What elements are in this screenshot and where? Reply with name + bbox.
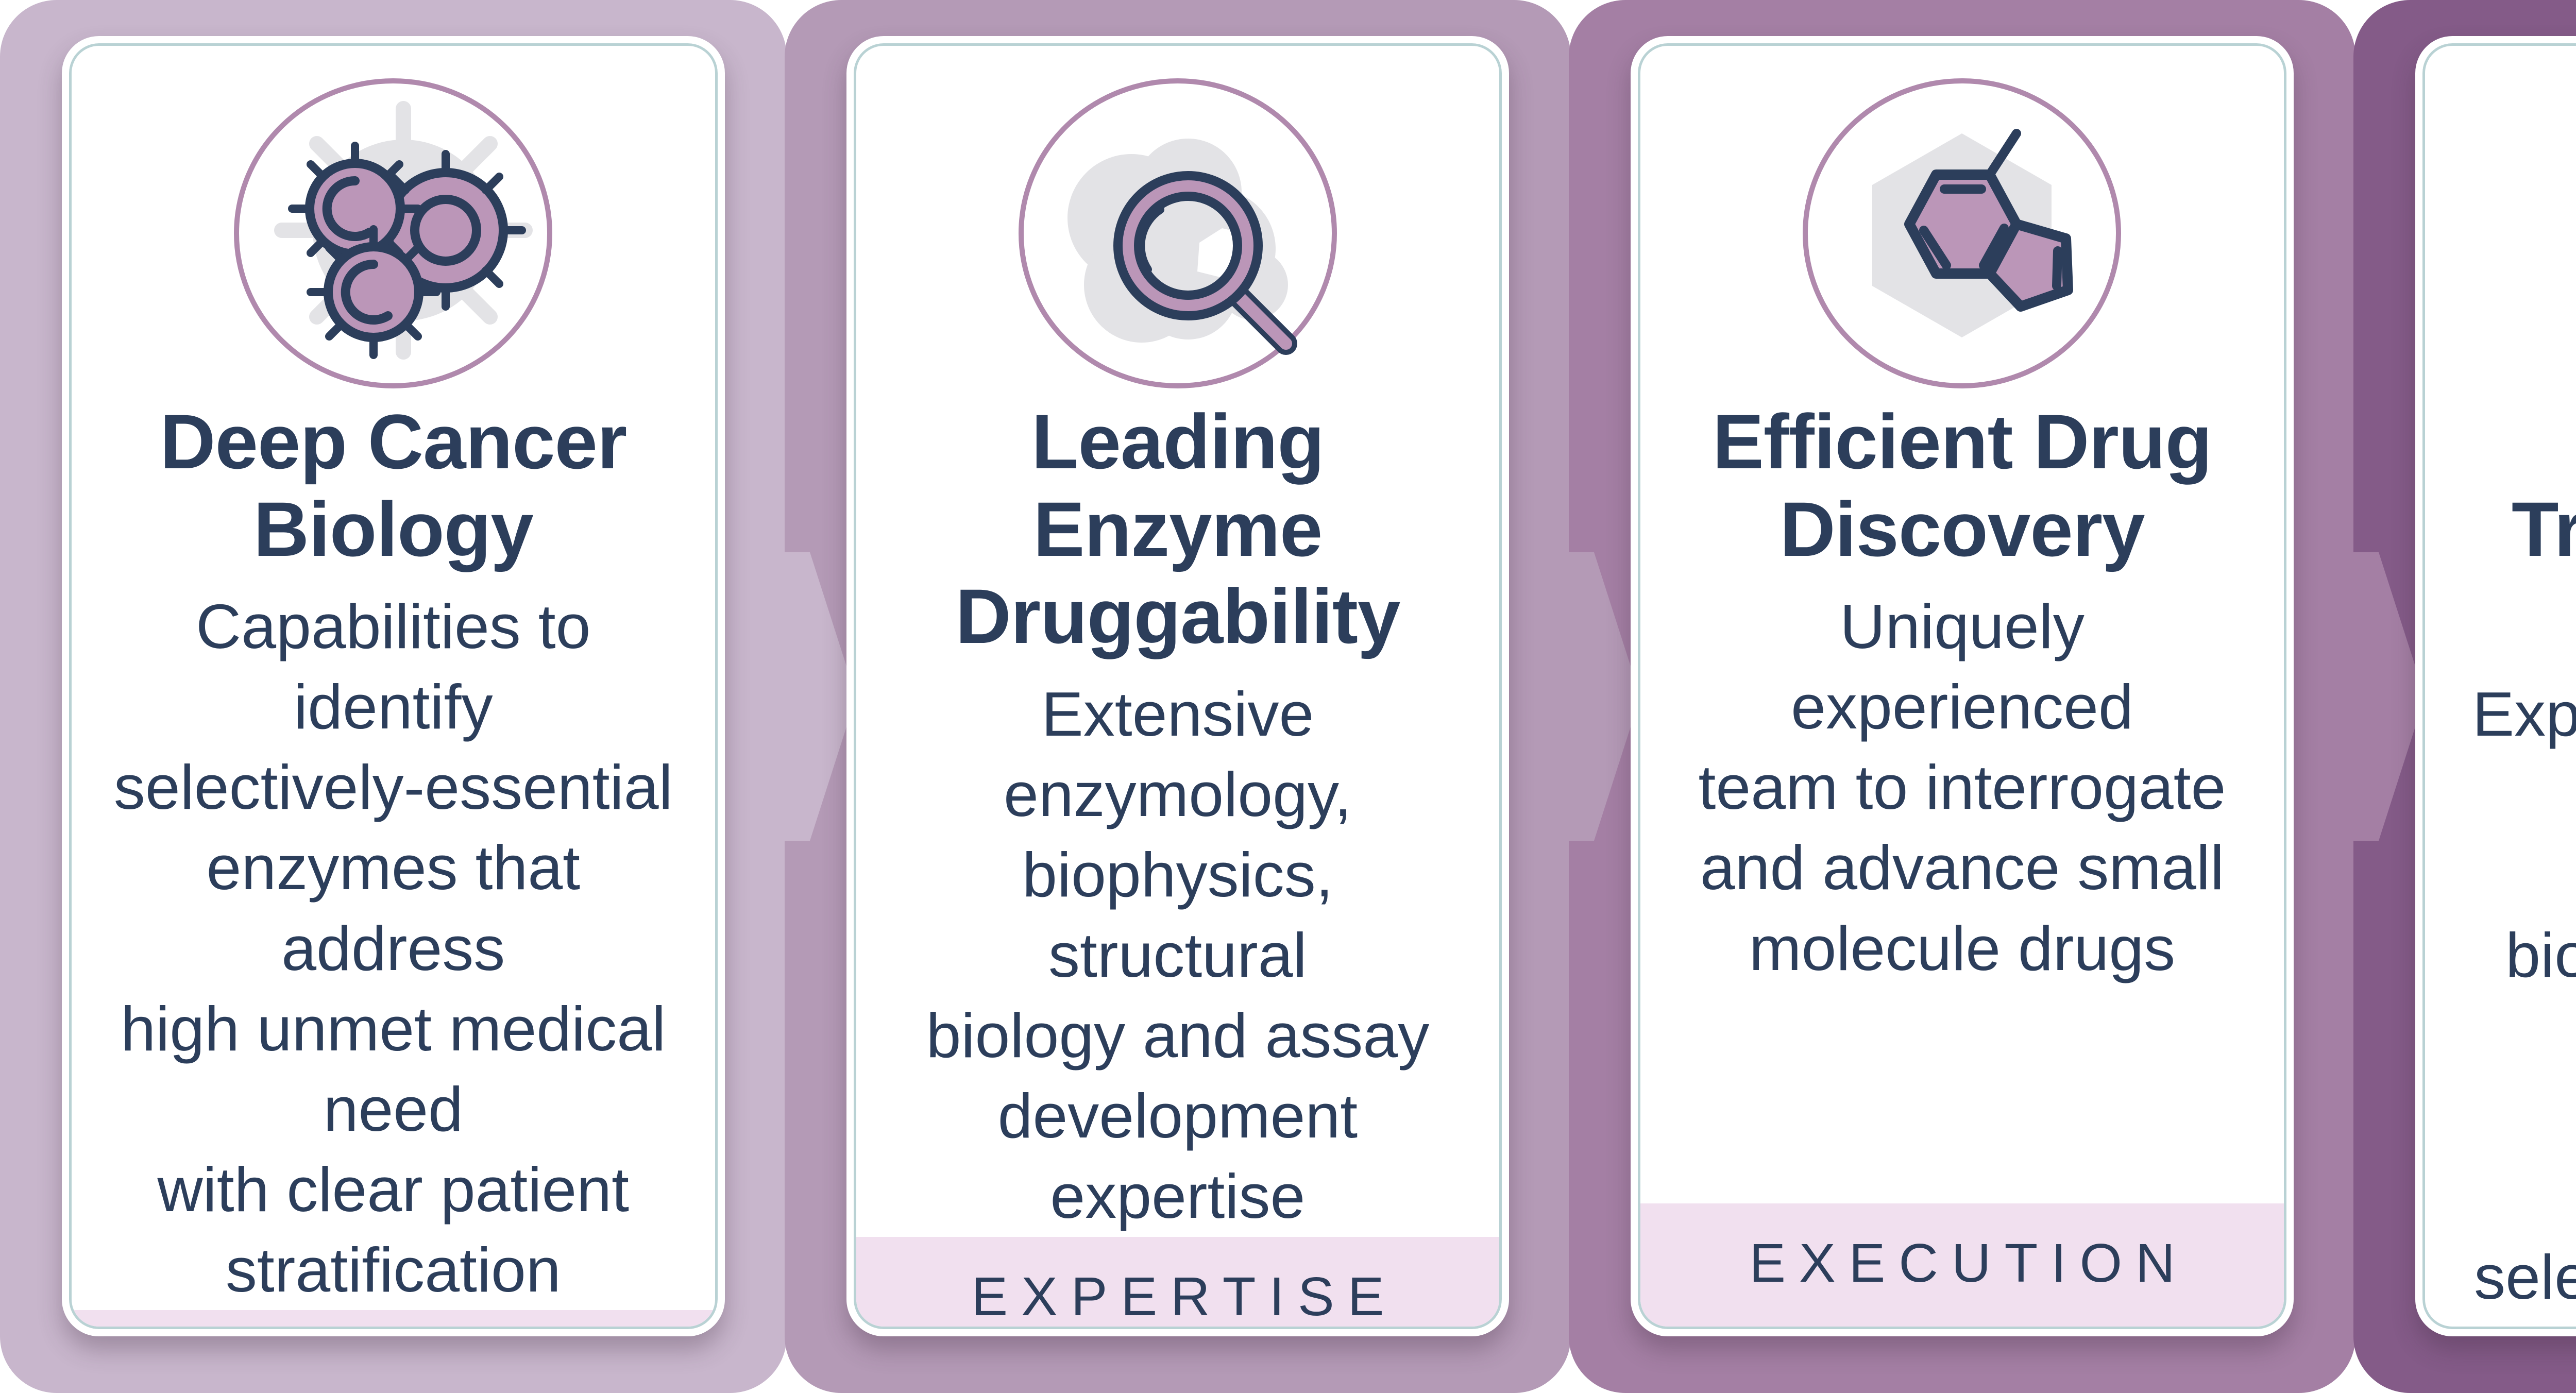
stage-title: Strong Translational Medicine — [2461, 398, 2576, 660]
stage-title: Deep Cancer Biology — [108, 398, 679, 573]
process-stage-strip: Deep Cancer Biology Capabilities to iden… — [0, 0, 2576, 1393]
stage-label-badge: INSIGHTS — [72, 1310, 715, 1329]
stage-card[interactable]: Leading Enzyme Druggability Extensive en… — [846, 36, 1510, 1336]
stage-text-block: Deep Cancer Biology Capabilities to iden… — [72, 393, 715, 1310]
stage-card-inner: Efficient Drug Discovery Uniquely experi… — [1638, 43, 2286, 1329]
stage-text-block: Strong Translational Medicine Expertise … — [2425, 393, 2576, 1329]
magnifier-icon — [977, 74, 1379, 393]
stage-title: Leading Enzyme Druggability — [892, 398, 1464, 660]
stage-execution[interactable]: Efficient Drug Discovery Uniquely experi… — [1569, 0, 2355, 1393]
stage-card[interactable]: Deep Cancer Biology Capabilities to iden… — [62, 36, 725, 1336]
stage-description: Expertise to identify actionable predict… — [2461, 674, 2576, 1330]
stage-insights[interactable]: Deep Cancer Biology Capabilities to iden… — [0, 0, 787, 1393]
stage-capabilities[interactable]: Strong Translational Medicine Expertise … — [2353, 0, 2576, 1393]
stage-description: Capabilities to identify selectively-ess… — [108, 586, 679, 1310]
stage-expertise[interactable]: Leading Enzyme Druggability Extensive en… — [785, 0, 1571, 1393]
stage-card[interactable]: Strong Translational Medicine Expertise … — [2415, 36, 2576, 1336]
stage-label-badge: EXPERTISE — [856, 1237, 1500, 1329]
molecule-icon — [1761, 74, 2163, 393]
stage-description: Uniquely experienced team to interrogate… — [1676, 586, 2248, 989]
stage-card-inner: Deep Cancer Biology Capabilities to iden… — [69, 43, 718, 1329]
cancer-cells-icon — [192, 74, 594, 393]
stage-card-inner: Leading Enzyme Druggability Extensive en… — [854, 43, 1502, 1329]
stage-description: Extensive enzymology, biophysics, struct… — [892, 674, 1464, 1237]
stage-card-inner: Strong Translational Medicine Expertise … — [2422, 43, 2576, 1329]
stage-title: Efficient Drug Discovery — [1676, 398, 2248, 573]
mouse-patient-icon — [2546, 74, 2576, 393]
stage-label-badge: EXECUTION — [1640, 1203, 2284, 1327]
stage-card[interactable]: Efficient Drug Discovery Uniquely experi… — [1631, 36, 2294, 1336]
stage-text-block: Leading Enzyme Druggability Extensive en… — [856, 393, 1500, 1237]
stage-text-block: Efficient Drug Discovery Uniquely experi… — [1640, 393, 2284, 1203]
